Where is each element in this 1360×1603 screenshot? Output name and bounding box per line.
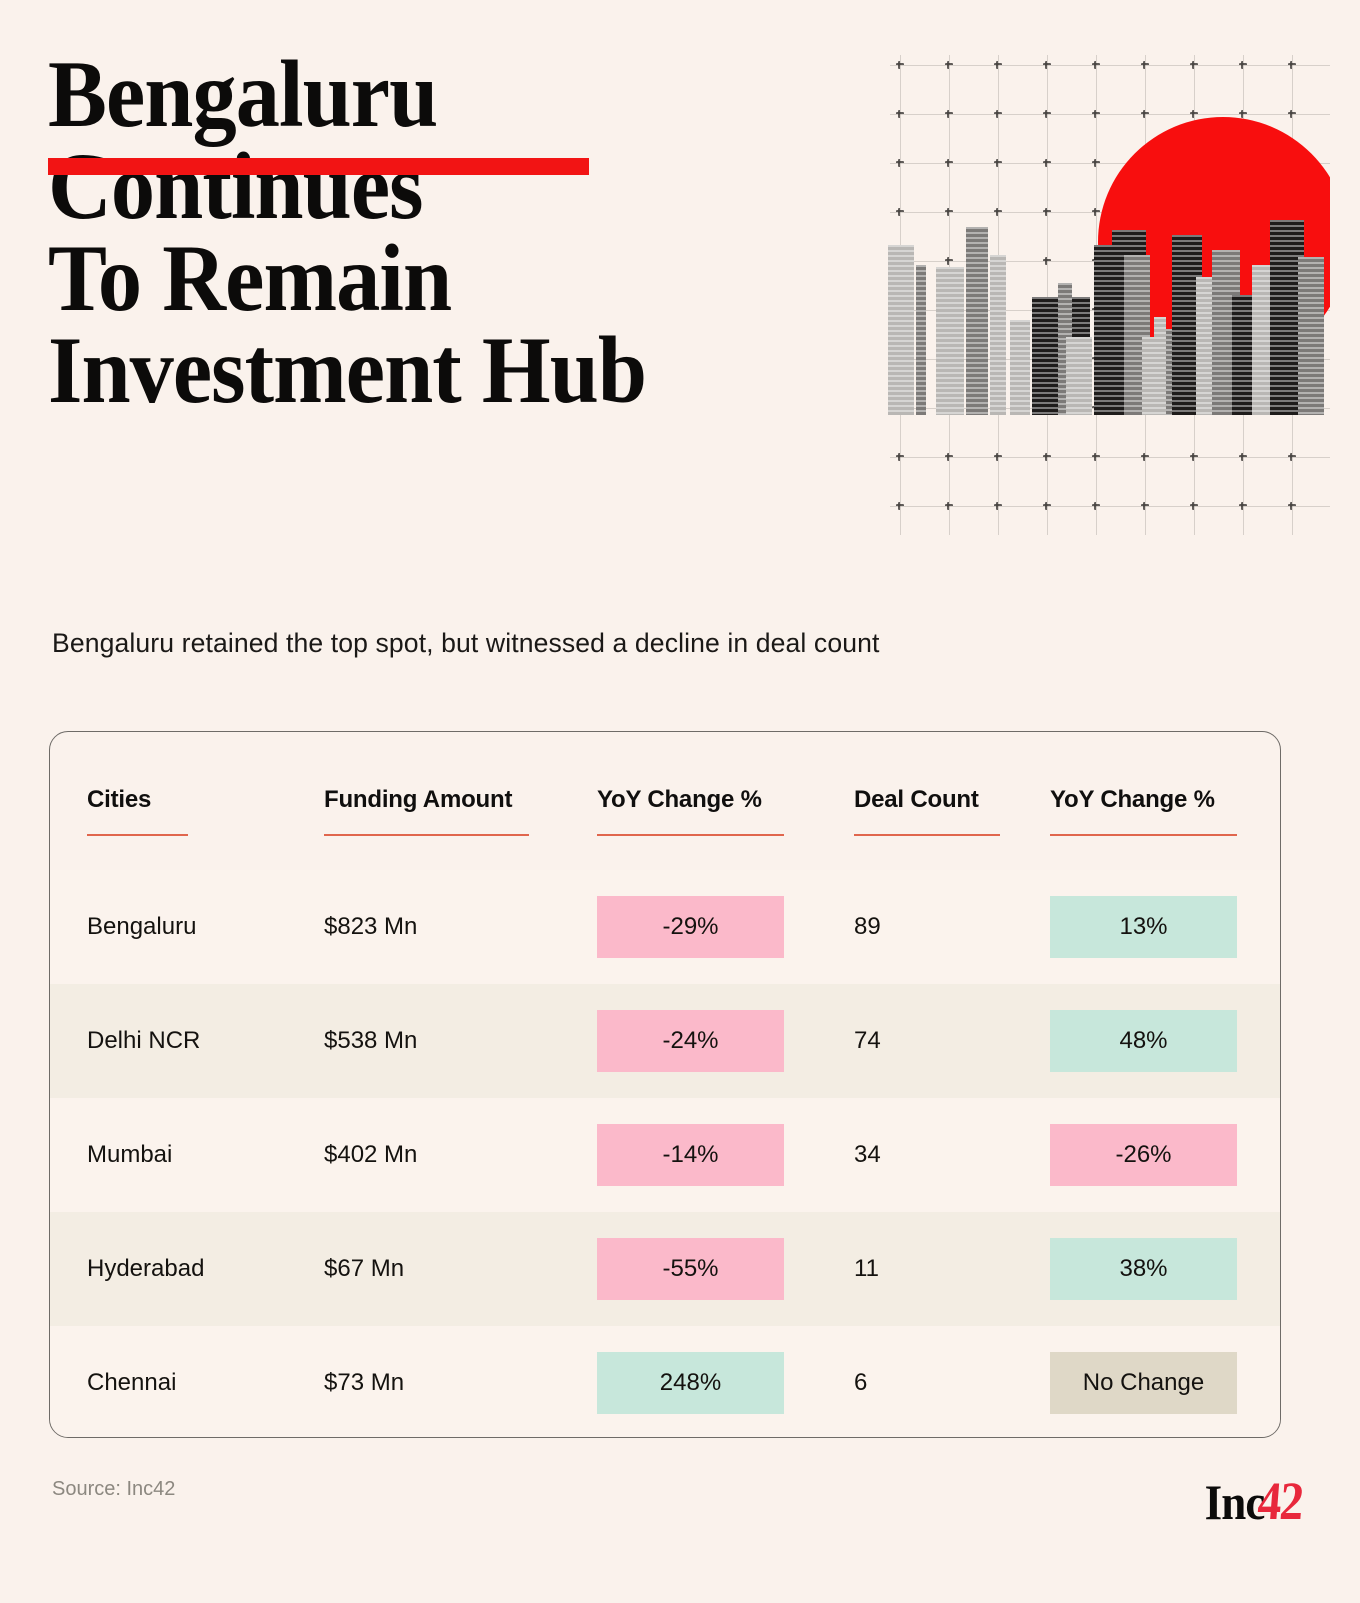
- cell-city: Hyderabad: [87, 1255, 204, 1283]
- status-badge: 48%: [1050, 1010, 1237, 1072]
- cell-deal-yoy: -26%: [1050, 1124, 1237, 1186]
- infographic-page: Bengaluru Continues To Remain Investment…: [0, 0, 1360, 1603]
- cell-funding-yoy: -24%: [597, 1010, 784, 1072]
- cell-funding: $73 Mn: [324, 1369, 404, 1397]
- cell-city: Mumbai: [87, 1141, 172, 1169]
- table-row: Hyderabad $67 Mn -55% 11 38%: [50, 1212, 1280, 1326]
- cell-funding: $402 Mn: [324, 1141, 417, 1169]
- header-rule: [597, 834, 784, 836]
- status-badge: 248%: [597, 1352, 784, 1414]
- table-row: Chennai $73 Mn 248% 6 No Change: [50, 1326, 1280, 1438]
- cell-funding: $823 Mn: [324, 913, 417, 941]
- title-line-3: To Remain: [48, 232, 820, 324]
- cell-deal-count: 6: [854, 1369, 867, 1397]
- cell-deal-count: 34: [854, 1141, 881, 1169]
- cell-funding-yoy: 248%: [597, 1352, 784, 1414]
- status-badge: -55%: [597, 1238, 784, 1300]
- header-rule: [854, 834, 1000, 836]
- table-row: Delhi NCR $538 Mn -24% 74 48%: [50, 984, 1280, 1098]
- status-badge: 38%: [1050, 1238, 1237, 1300]
- column-header-cities: Cities: [87, 786, 188, 836]
- status-badge: -14%: [597, 1124, 784, 1186]
- city-skyline-icon: [880, 55, 1330, 535]
- title-line-1: Bengaluru: [48, 48, 820, 140]
- page-title: Bengaluru Continues To Remain Investment…: [48, 48, 878, 417]
- header-rule: [324, 834, 529, 836]
- cell-deal-count: 74: [854, 1027, 881, 1055]
- source-label: Source: Inc42: [52, 1478, 175, 1501]
- title-red-underline: [48, 158, 589, 175]
- data-table: Cities Funding Amount YoY Change % Deal …: [50, 732, 1280, 1438]
- logo-text-42: 42: [1256, 1470, 1305, 1532]
- status-badge: -29%: [597, 896, 784, 958]
- header-rule: [1050, 834, 1237, 836]
- cell-funding-yoy: -55%: [597, 1238, 784, 1300]
- cell-funding-yoy: -29%: [597, 896, 784, 958]
- status-badge: 13%: [1050, 896, 1237, 958]
- column-header-deal-count: Deal Count: [854, 786, 1000, 836]
- subtitle: Bengaluru retained the top spot, but wit…: [52, 628, 879, 659]
- status-badge: No Change: [1050, 1352, 1237, 1414]
- cell-funding: $67 Mn: [324, 1255, 404, 1283]
- cell-city: Chennai: [87, 1369, 176, 1397]
- header-rule: [87, 834, 188, 836]
- cell-city: Bengaluru: [87, 913, 196, 941]
- cell-deal-yoy: No Change: [1050, 1352, 1237, 1414]
- cell-deal-yoy: 48%: [1050, 1010, 1237, 1072]
- cell-deal-yoy: 13%: [1050, 896, 1237, 958]
- table-row: Bengaluru $823 Mn -29% 89 13%: [50, 870, 1280, 984]
- skyline-buildings: [880, 175, 1330, 415]
- cell-deal-count: 89: [854, 913, 881, 941]
- cell-funding: $538 Mn: [324, 1027, 417, 1055]
- column-header-funding-amount: Funding Amount: [324, 786, 529, 836]
- cell-city: Delhi NCR: [87, 1027, 200, 1055]
- title-line-2: Continues: [48, 140, 820, 232]
- status-badge: -24%: [597, 1010, 784, 1072]
- title-line-4: Investment Hub: [48, 324, 820, 416]
- column-header-funding-yoy: YoY Change %: [597, 786, 784, 836]
- column-header-deal-yoy: YoY Change %: [1050, 786, 1237, 836]
- table-header-row: Cities Funding Amount YoY Change % Deal …: [50, 732, 1280, 870]
- logo-text-inc: Inc: [1204, 1473, 1264, 1531]
- status-badge: -26%: [1050, 1124, 1237, 1186]
- cell-deal-count: 11: [854, 1255, 879, 1283]
- data-table-card: Cities Funding Amount YoY Change % Deal …: [49, 731, 1281, 1438]
- cell-funding-yoy: -14%: [597, 1124, 784, 1186]
- table-row: Mumbai $402 Mn -14% 34 -26%: [50, 1098, 1280, 1212]
- cell-deal-yoy: 38%: [1050, 1238, 1237, 1300]
- inc42-logo: Inc 42: [1198, 1470, 1308, 1532]
